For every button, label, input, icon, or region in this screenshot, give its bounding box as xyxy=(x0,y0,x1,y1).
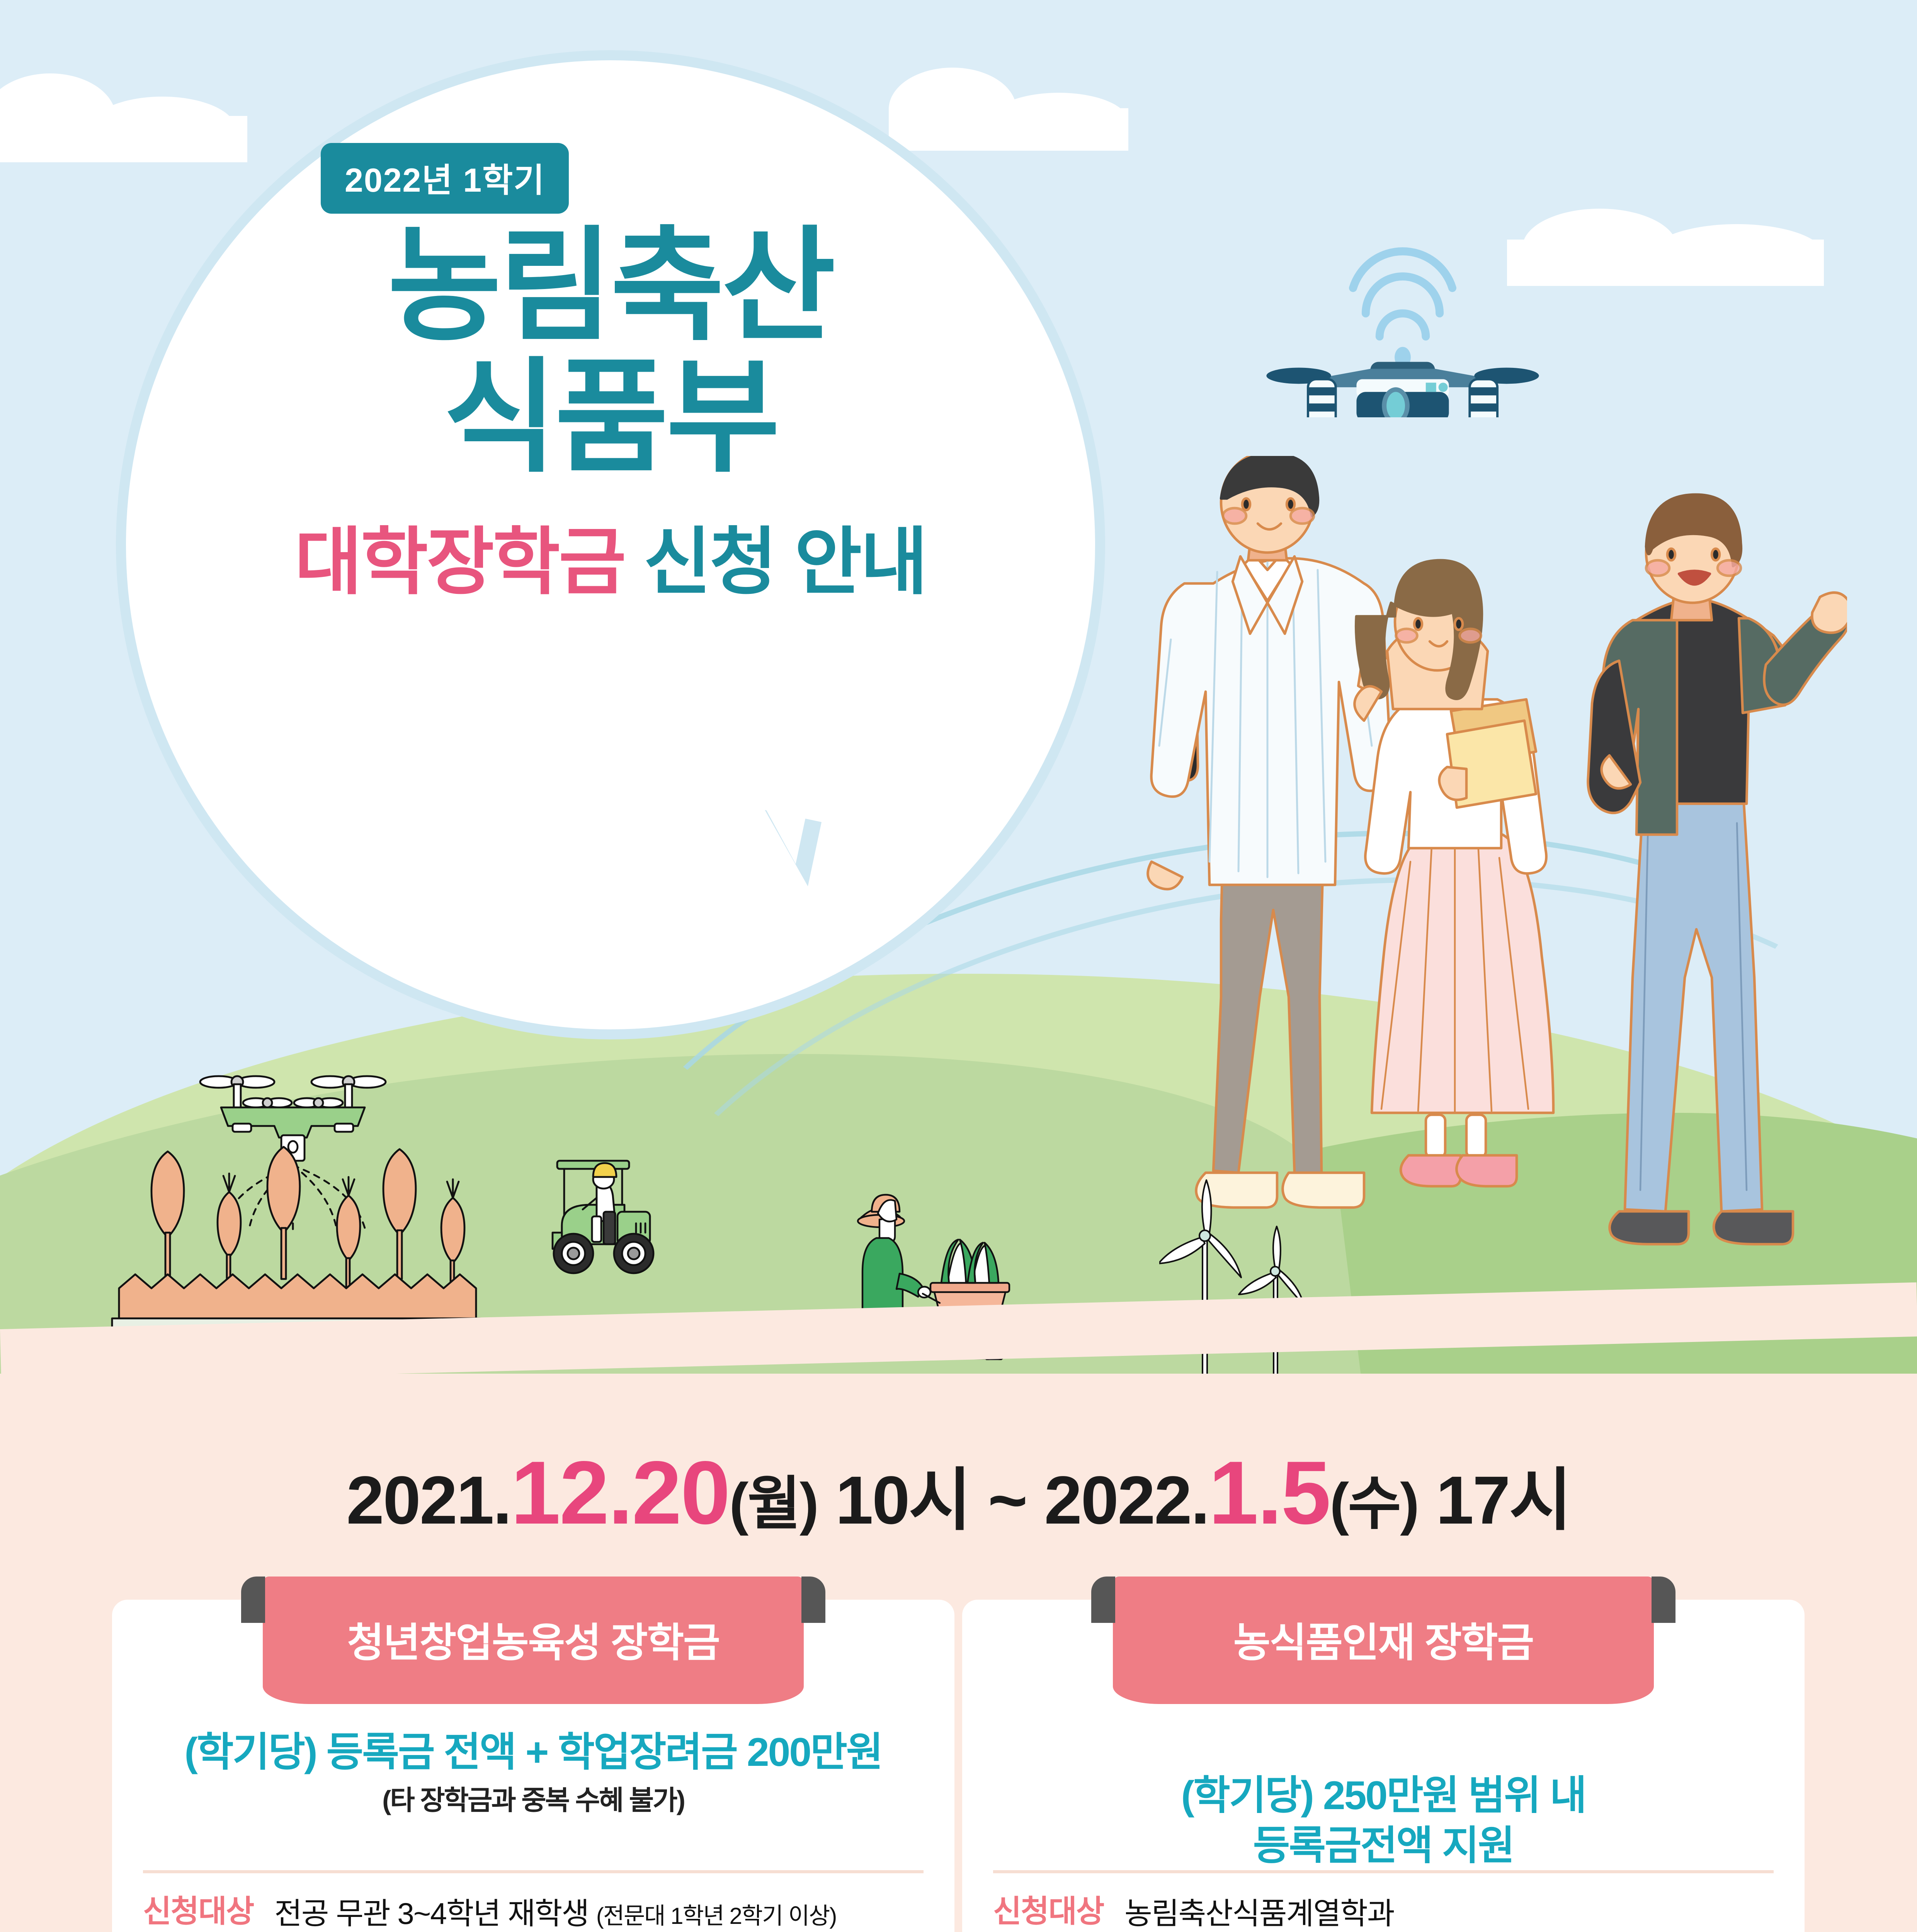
card-amount-main: (학기당) 250만원 범위 내 등록금전액 지원 xyxy=(1181,1773,1586,1868)
period-end-time: 17시 xyxy=(1418,1463,1571,1538)
row-text: 전공 무관 3~4학년 재학생 xyxy=(274,1896,596,1930)
subtitle-rest: 신청 안내 xyxy=(625,521,927,603)
period-end-year: 2022. xyxy=(1044,1463,1208,1538)
table-row: 신청대상 전공 무관 3~4학년 재학생 (전문대 1학년 2학기 이상) xyxy=(143,1893,931,1932)
card-divider xyxy=(143,1870,924,1873)
row-text: 농림축산식품계열학과 xyxy=(1124,1893,1781,1932)
table-row: 신청대상 농림축산식품계열학과 1학년 2학기~2학년 2학기 재학생 (전문대… xyxy=(993,1893,1781,1932)
poster-root: 2022년 1학기 농림축산 식품부 대학장학금 신청 안내 xyxy=(0,0,1917,1932)
card-amount: (학기당) 250만원 범위 내 등록금전액 지원 xyxy=(962,1720,1805,1871)
card-ribbon-title: 청년창업농육성 장학금 xyxy=(263,1577,804,1704)
period-start-time: 10시 xyxy=(818,1463,988,1538)
subtitle-highlight: 대학장학금 xyxy=(295,521,625,603)
period-separator: ~ xyxy=(988,1463,1044,1538)
drone-wifi-icon xyxy=(1229,216,1577,417)
row-body: 농림축산식품계열학과 1학년 2학기~2학년 2학기 재학생 (전문대 제외) xyxy=(1124,1893,1781,1932)
row-body: 전공 무관 3~4학년 재학생 (전문대 1학년 2학기 이상) xyxy=(274,1893,931,1932)
page-subtitle: 대학장학금 신청 안내 xyxy=(70,502,1152,609)
row-label: 신청대상 xyxy=(993,1893,1124,1932)
page-title-line2: 식품부 xyxy=(116,355,1105,479)
period-start-day: (월) xyxy=(729,1471,818,1536)
scholarship-cards: 청년창업농육성 장학금 (학기당) 등록금 전액 + 학업장려금 200만원 (… xyxy=(0,1600,1917,1932)
card-rows: 신청대상 전공 무관 3~4학년 재학생 (전문대 1학년 2학기 이상) 신청… xyxy=(143,1893,931,1932)
farm-scene-illustration xyxy=(100,989,680,1337)
card-ribbon-title: 농식품인재 장학금 xyxy=(1113,1577,1654,1704)
card-amount: (학기당) 등록금 전액 + 학업장려금 200만원 (타 장학금과 중복 수혜… xyxy=(112,1727,954,1818)
term-badge: 2022년 1학기 xyxy=(321,143,569,214)
card-amount-main: (학기당) 등록금 전액 + 학업장려금 200만원 xyxy=(184,1730,882,1775)
row-note: (전문대 1학년 2학기 이상) xyxy=(596,1903,837,1929)
period-end-date: 1.5 xyxy=(1209,1443,1330,1543)
hero-section: 2022년 1학기 농림축산 식품부 대학장학금 신청 안내 xyxy=(0,0,1917,1374)
period-end-day: (수) xyxy=(1330,1471,1418,1536)
scholarship-card-agrifood-talent: 농식품인재 장학금 (학기당) 250만원 범위 내 등록금전액 지원 신청대상… xyxy=(962,1600,1805,1932)
card-divider xyxy=(993,1870,1774,1873)
period-start-year: 2021. xyxy=(346,1463,510,1538)
scholarship-card-youth-startup: 청년창업농육성 장학금 (학기당) 등록금 전액 + 학업장려금 200만원 (… xyxy=(112,1600,954,1932)
period-start-date: 12.20 xyxy=(511,1443,730,1543)
row-label: 신청대상 xyxy=(143,1893,274,1932)
application-period: 2021.12.20(월) 10시 ~ 2022.1.5(수) 17시 xyxy=(0,1441,1917,1544)
page-title-line1: 농림축산 xyxy=(116,224,1105,348)
card-amount-note: (타 장학금과 중복 수혜 불가) xyxy=(112,1784,954,1818)
card-rows: 신청대상 농림축산식품계열학과 1학년 2학기~2학년 2학기 재학생 (전문대… xyxy=(993,1893,1781,1932)
